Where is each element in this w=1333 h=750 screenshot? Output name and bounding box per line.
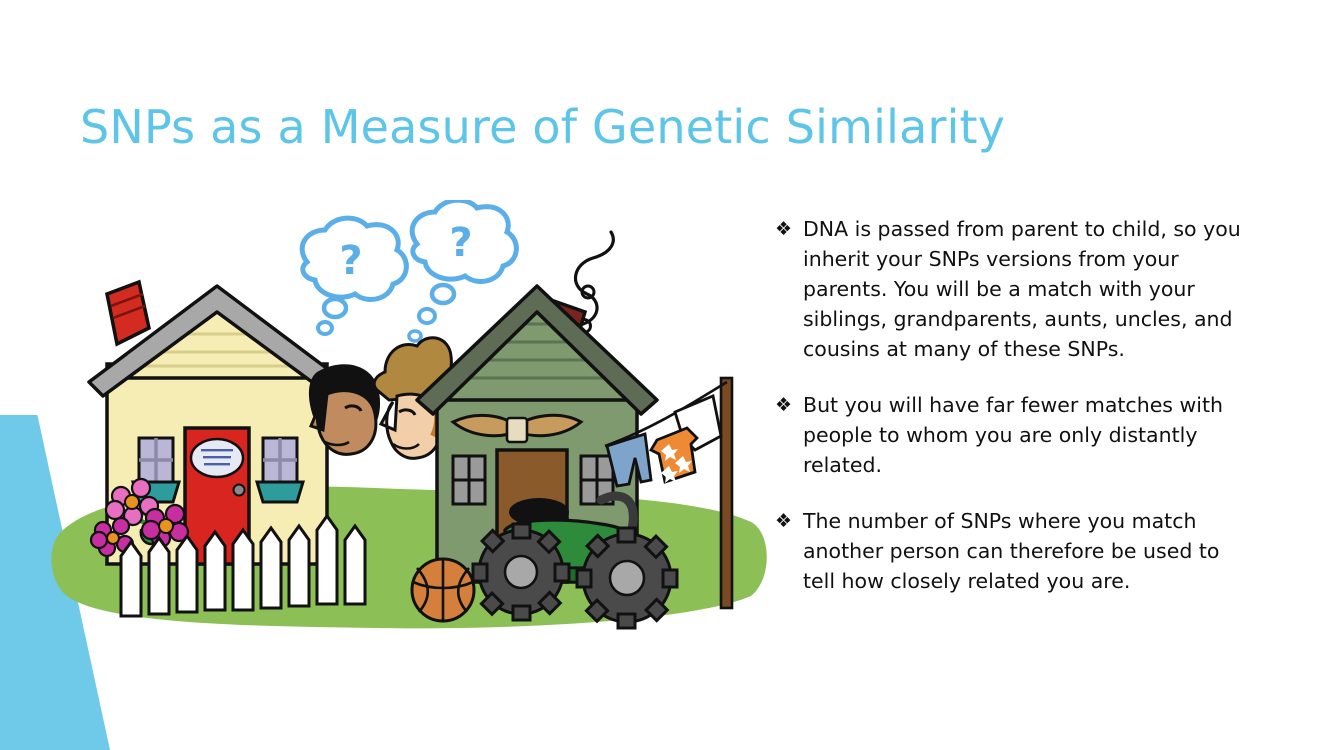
- hanging-shirt: [651, 428, 697, 483]
- page-title: SNPs as a Measure of Genetic Similarity: [80, 101, 1130, 154]
- basketball: [412, 559, 474, 621]
- svg-text:?: ?: [449, 220, 472, 266]
- left-window-b: [257, 438, 303, 502]
- tractor-wheel-front: [473, 524, 569, 620]
- left-doorknob: [234, 485, 245, 496]
- bullet-item: ❖ The number of SNPs where you match ano…: [775, 506, 1255, 596]
- bullet-text: The number of SNPs where you match anoth…: [803, 506, 1255, 596]
- left-thought-bubble: ?: [302, 218, 406, 334]
- bullet-item: ❖ DNA is passed from parent to child, so…: [775, 214, 1255, 364]
- tractor-wheel-rear: [577, 528, 677, 628]
- right-window-a: [453, 456, 485, 504]
- bullet-text: But you will have far fewer matches with…: [803, 390, 1255, 480]
- bullet-text: DNA is passed from parent to child, so y…: [803, 214, 1255, 364]
- bullet-diamond-icon: ❖: [775, 214, 803, 244]
- bullet-list: ❖ DNA is passed from parent to child, so…: [775, 214, 1255, 596]
- slide: SNPs as a Measure of Genetic Similarity …: [0, 0, 1333, 750]
- bullet-diamond-icon: ❖: [775, 390, 803, 420]
- illustration-two-neighbors: ? ?: [45, 200, 785, 660]
- svg-text:?: ?: [339, 238, 362, 284]
- clothesline-pole: [721, 378, 732, 608]
- bullet-item: ❖ But you will have far fewer matches wi…: [775, 390, 1255, 480]
- bullet-diamond-icon: ❖: [775, 506, 803, 536]
